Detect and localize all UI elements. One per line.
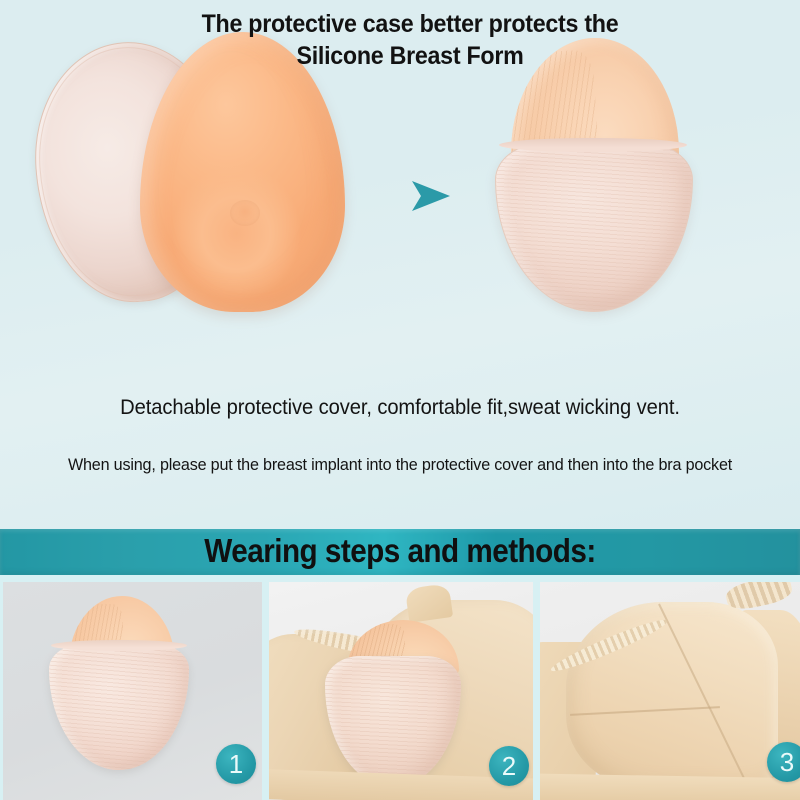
headline-line-2: Silicone Breast Form [150,40,671,72]
section-banner: Wearing steps and methods: [0,529,800,575]
cover-front-panel [495,142,693,312]
photo-2-cover-body [325,656,461,786]
arrow-right-icon [410,178,452,214]
photo-1-cover-body [49,644,189,770]
photo-3-bra-band [540,773,800,800]
step-badge-3: 3 [767,742,800,782]
cover-weave-texture [496,143,692,311]
product-infographic: The protective case better protects the … [0,0,800,800]
headline-line-1: The protective case better protects the [202,10,619,38]
step-badge-1: 1 [216,744,256,784]
photo-1-weave-texture [49,644,189,770]
page-title: The protective case better protects the … [150,8,671,72]
caption-secondary: When using, please put the breast implan… [20,455,780,475]
steps-gallery [0,575,800,800]
top-product-section: The protective case better protects the … [0,0,800,528]
form-inside-cover-image [495,38,691,310]
step-badge-2: 2 [489,746,529,786]
cover-opening-edge [499,138,687,152]
form-apex-detail [230,200,260,226]
photo-1-cover-edge [51,640,187,651]
banner-title: Wearing steps and methods: [40,529,760,575]
step-photo-3 [540,582,800,800]
caption-primary: Detachable protective cover, comfortable… [16,396,784,420]
photo-2-weave-texture [325,656,461,786]
